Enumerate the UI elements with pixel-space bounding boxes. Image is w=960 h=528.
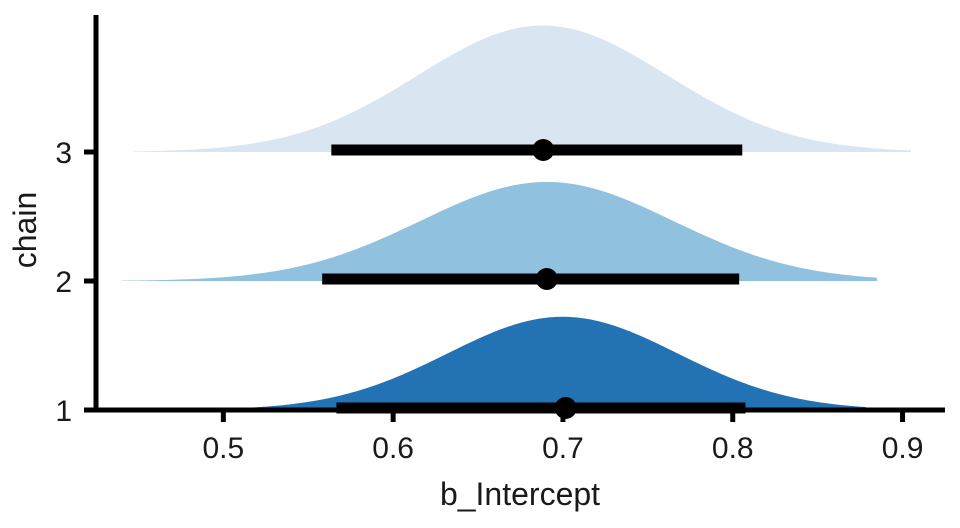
y-axis-tick-label: 3 <box>55 137 72 170</box>
x-axis-title: b_Intercept <box>440 476 600 512</box>
x-axis-tick-label: 0.7 <box>542 432 584 465</box>
point-estimate-dot-chain-2 <box>536 268 558 290</box>
x-axis-tick-label: 0.5 <box>202 432 244 465</box>
ridgeline-plot: 0.50.60.70.80.9 123 b_Intercept chain <box>0 0 960 528</box>
x-axis-tick-label: 0.8 <box>712 432 754 465</box>
y-axis-tick-label: 2 <box>55 266 72 299</box>
plot-canvas: 0.50.60.70.80.9 123 b_Intercept chain <box>0 0 960 528</box>
y-axis-title: chain <box>7 192 43 269</box>
point-estimate-dot-chain-3 <box>532 139 554 161</box>
x-axis-tick-label: 0.9 <box>882 432 924 465</box>
x-axis-tick-label: 0.6 <box>372 432 414 465</box>
y-axis-tick-label: 1 <box>55 395 72 428</box>
